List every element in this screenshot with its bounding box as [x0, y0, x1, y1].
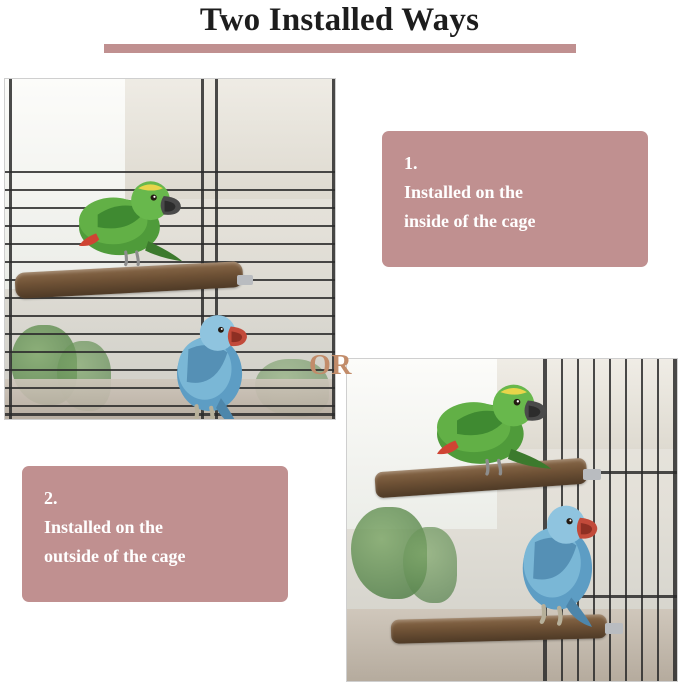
title-underline: [104, 44, 576, 53]
cage-bar-horizontal: [5, 297, 335, 299]
photo-outside-cage: [346, 358, 678, 682]
blue-parakeet: [151, 301, 273, 420]
cage-bar-vertical: [641, 359, 643, 681]
caption-line-2: inside of the cage: [404, 207, 626, 236]
cage-bar-vertical: [625, 359, 627, 681]
green-parrot: [51, 161, 191, 273]
caption-line-2: outside of the cage: [44, 542, 266, 571]
or-label: OR: [309, 350, 352, 382]
cage-frame-post: [9, 79, 12, 419]
title-block: Two Installed Ways: [0, 0, 679, 68]
photo-inside-cage: [4, 78, 336, 420]
page-title: Two Installed Ways: [0, 2, 679, 39]
caption-line-1: Installed on the: [44, 513, 266, 542]
caption-number: 2.: [44, 484, 266, 513]
caption-number: 1.: [404, 149, 626, 178]
perch-mount-screw: [237, 275, 253, 285]
blue-parakeet: [495, 491, 625, 633]
cage-bar-vertical: [657, 359, 659, 681]
cage-frame-post: [673, 359, 677, 681]
green-parrot: [407, 365, 557, 481]
caption-card-2: 2. Installed on the outside of the cage: [22, 466, 288, 602]
caption-line-1: Installed on the: [404, 178, 626, 207]
caption-card-1: 1. Installed on the inside of the cage: [382, 131, 648, 267]
perch-mount-screw: [583, 469, 601, 480]
